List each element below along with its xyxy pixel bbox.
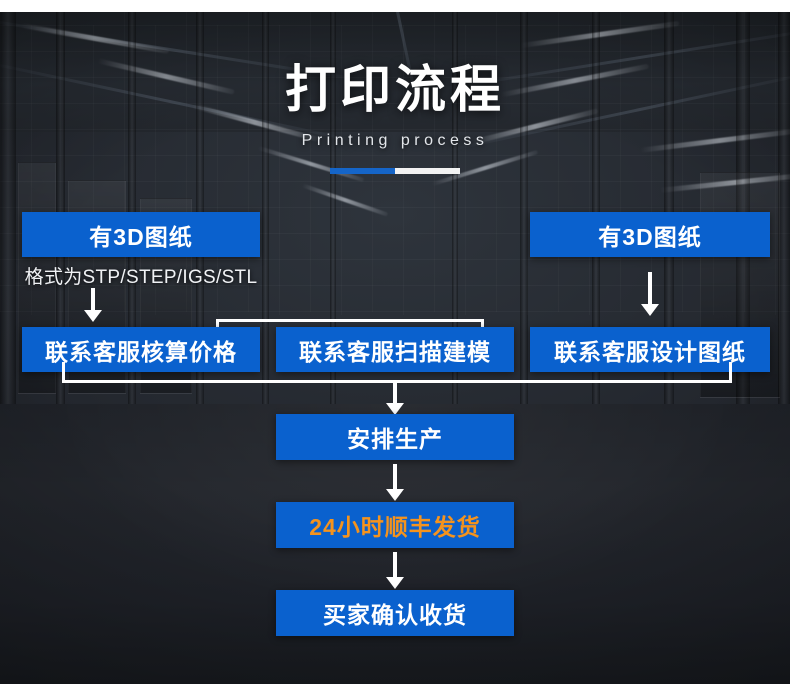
printing-process-banner: 打印流程 Printing process 有3D图纸 格式为STP/STEP/… bbox=[0, 0, 790, 696]
flow-box-arrange-production[interactable]: 安排生产 bbox=[276, 414, 514, 460]
flow-box-contact-service-design-drawing[interactable]: 联系客服设计图纸 bbox=[530, 327, 770, 372]
page-subtitle: Printing process bbox=[0, 132, 790, 150]
divider-white-segment bbox=[395, 168, 460, 174]
arrow-down-right-col bbox=[633, 272, 667, 318]
flow-box-have-3d-drawing-right[interactable]: 有3D图纸 bbox=[530, 212, 770, 257]
flow-box-contact-service-scan-model[interactable]: 联系客服扫描建模 bbox=[276, 327, 514, 372]
flow-box-buyer-confirm-receipt[interactable]: 买家确认收货 bbox=[276, 590, 514, 636]
flow-box-have-3d-drawing-left[interactable]: 有3D图纸 bbox=[22, 212, 260, 257]
connector-bottom-bracket-left-stub bbox=[62, 362, 65, 382]
connector-bottom-bracket-right-stub bbox=[729, 362, 732, 382]
divider-blue-segment bbox=[330, 168, 395, 174]
arrow-down-to-shipping bbox=[378, 464, 412, 502]
page-title: 打印流程 bbox=[0, 64, 790, 115]
arrow-down-to-confirm bbox=[378, 552, 412, 590]
arrow-down-to-production bbox=[378, 380, 412, 416]
flow-box-24h-sf-express-shipping[interactable]: 24小时顺丰发货 bbox=[276, 502, 514, 548]
title-divider bbox=[330, 168, 460, 174]
flow-caption-file-formats: 格式为STP/STEP/IGS/STL bbox=[22, 262, 260, 289]
banner-header: 打印流程 Printing process bbox=[0, 12, 790, 174]
flow-box-contact-service-quote[interactable]: 联系客服核算价格 bbox=[22, 327, 260, 372]
arrow-down-left-col bbox=[76, 288, 110, 322]
connector-top-bracket bbox=[216, 319, 484, 322]
